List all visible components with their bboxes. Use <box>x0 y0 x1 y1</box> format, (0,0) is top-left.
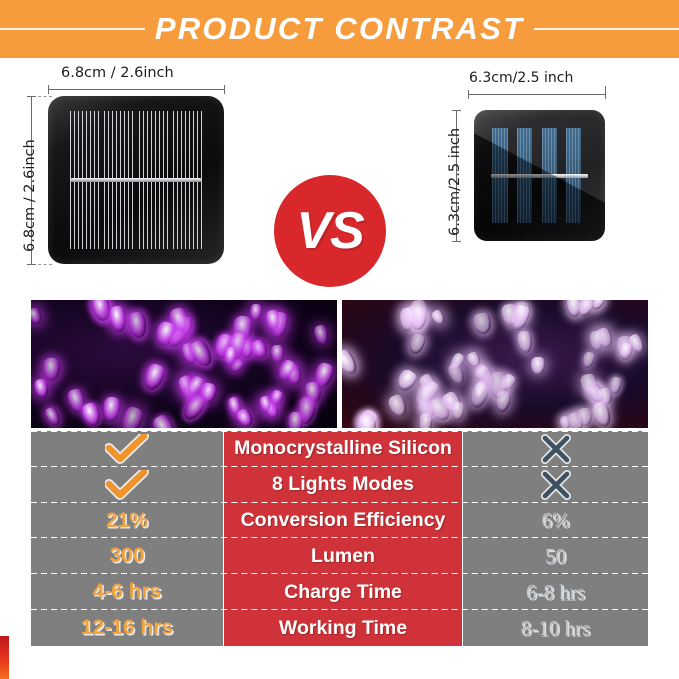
header-banner: PRODUCT CONTRAST <box>0 0 679 58</box>
ours-cell <box>31 467 223 503</box>
page-title: PRODUCT CONTRAST <box>155 11 524 47</box>
feature-cell: Working Time <box>224 610 462 646</box>
ours-led-photo <box>31 300 337 428</box>
led-photo-comparison <box>31 300 648 428</box>
table-row: 21%Conversion Efficiency6% <box>31 503 648 539</box>
ours-dim-guide-bottom <box>38 264 52 265</box>
others-cell: 6% <box>463 503 648 539</box>
feature-label: Conversion Efficiency <box>241 509 446 532</box>
others-cell: 8-10 hrs <box>463 610 648 646</box>
feature-cell: Conversion Efficiency <box>224 503 462 539</box>
led-bulb <box>271 344 285 363</box>
ours-width-tick-left <box>48 85 49 94</box>
panel-comparison-section: 6.8cm / 2.6inch 6.8cm / 2.6inch OURS VS <box>0 58 679 290</box>
others-led-photo <box>342 300 648 428</box>
feature-label: Lumen <box>311 545 375 568</box>
others-cell <box>463 431 648 467</box>
ours-height-tick-top <box>27 96 36 97</box>
others-solar-panel-image <box>474 110 605 241</box>
feature-cell: Lumen <box>224 538 462 574</box>
header-rule-right <box>534 28 679 30</box>
others-cell: 50 <box>463 538 648 574</box>
solar-busbar <box>71 178 200 182</box>
ours-cell: 12-16 hrs <box>31 610 223 646</box>
check-icon <box>105 434 149 464</box>
cross-icon <box>541 434 571 464</box>
ours-width-tick-right <box>224 85 225 94</box>
feature-label: Charge Time <box>284 581 402 604</box>
feature-label: Working Time <box>279 617 407 640</box>
others-width-tick-right <box>605 86 606 99</box>
table-row: 300Lumen50 <box>31 538 648 574</box>
ours-width-label: 6.8cm / 2.6inch <box>61 65 174 81</box>
corner-accent-stripe <box>0 636 9 679</box>
table-row: Monocrystalline Silicon <box>31 431 648 467</box>
ours-solar-panel-image <box>48 96 224 264</box>
panel-glare-overlay <box>474 110 605 241</box>
led-bulb <box>287 412 303 428</box>
ours-width-dimension-line <box>48 89 224 90</box>
feature-cell: 8 Lights Modes <box>224 467 462 503</box>
table-row: 4-6 hrsCharge Time6-8 hrs <box>31 574 648 610</box>
table-row: 12-16 hrsWorking Time8-10 hrs <box>31 610 648 646</box>
others-width-label: 6.3cm/2.5 inch <box>469 70 573 86</box>
ours-value: 12-16 hrs <box>81 616 173 640</box>
cross-icon <box>541 470 571 500</box>
comparison-table: Monocrystalline Silicon8 Lights Modes21%… <box>31 431 648 646</box>
ours-cell: 21% <box>31 503 223 539</box>
ours-value: 4-6 hrs <box>93 580 162 604</box>
others-value: 6% <box>542 508 570 533</box>
ours-cell <box>31 431 223 467</box>
others-height-tick-top <box>452 110 461 111</box>
ours-height-label: 6.8cm / 2.6inch <box>22 139 38 252</box>
ours-cell: 300 <box>31 538 223 574</box>
others-value: 50 <box>545 544 566 569</box>
others-value: 8-10 hrs <box>521 616 590 641</box>
others-width-tick-left <box>468 90 469 99</box>
others-cell: 6-8 hrs <box>463 574 648 610</box>
others-cell <box>463 467 648 503</box>
product-contrast-infographic: PRODUCT CONTRAST 6.8cm / 2.6inch 6.8cm /… <box>0 0 679 679</box>
others-width-dimension-line <box>468 94 605 95</box>
vs-badge: VS <box>274 175 386 287</box>
row-separator <box>31 430 648 432</box>
header-rule-left <box>0 28 145 30</box>
led-bulb <box>418 412 433 428</box>
ours-height-tick-bottom <box>27 264 36 265</box>
table-row: 8 Lights Modes <box>31 467 648 503</box>
feature-cell: Charge Time <box>224 574 462 610</box>
ours-cell: 4-6 hrs <box>31 574 223 610</box>
ours-value: 300 <box>109 544 144 568</box>
ours-value: 21% <box>106 509 148 533</box>
feature-label: 8 Lights Modes <box>272 473 414 496</box>
feature-cell: Monocrystalline Silicon <box>224 431 462 467</box>
others-value: 6-8 hrs <box>526 580 585 605</box>
vs-label: VS <box>296 201 363 261</box>
feature-label: Monocrystalline Silicon <box>234 437 452 460</box>
others-height-label: 6.3cm/2.5 inch <box>447 128 463 236</box>
check-icon <box>105 470 149 500</box>
others-height-tick-bottom <box>452 241 461 242</box>
